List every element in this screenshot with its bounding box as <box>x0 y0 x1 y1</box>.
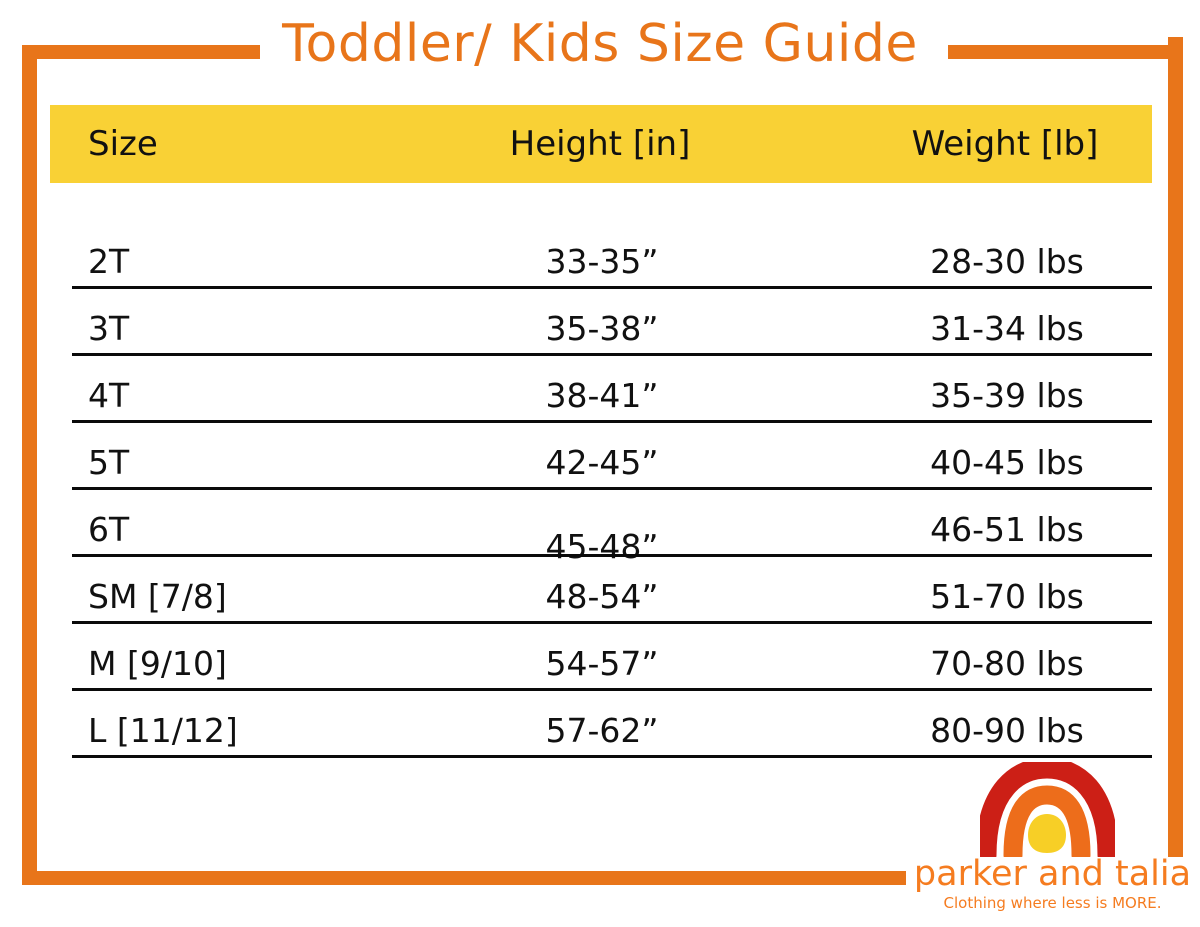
cell-size: 4T <box>88 376 129 415</box>
cell-weight: 46-51 lbs <box>862 510 1152 549</box>
table-row: 5T42-45”40-45 lbs <box>72 423 1152 490</box>
cell-weight: 70-80 lbs <box>862 644 1152 683</box>
table-row: SM [7/8]48-54”51-70 lbs <box>72 557 1152 624</box>
cell-height: 54-57” <box>452 644 752 683</box>
cell-size: 2T <box>88 242 129 281</box>
cell-weight: 28-30 lbs <box>862 242 1152 281</box>
cell-size: M [9/10] <box>88 644 227 683</box>
cell-weight: 35-39 lbs <box>862 376 1152 415</box>
rainbow-icon <box>980 762 1115 857</box>
table-row: M [9/10]54-57”70-80 lbs <box>72 624 1152 691</box>
cell-size: L [11/12] <box>88 711 238 750</box>
cell-height: 35-38” <box>452 309 752 348</box>
cell-height: 33-35” <box>452 242 752 281</box>
cell-size: 5T <box>88 443 129 482</box>
cell-height: 42-45” <box>452 443 752 482</box>
size-guide-card: Toddler/ Kids Size Guide Size Height [in… <box>0 0 1200 927</box>
table-row: 2T33-35”28-30 lbs <box>72 222 1152 289</box>
cell-size: SM [7/8] <box>88 577 227 616</box>
table-row: 6T45-48”46-51 lbs <box>72 490 1152 557</box>
cell-size: 6T <box>88 510 129 549</box>
table-row: L [11/12]57-62”80-90 lbs <box>72 691 1152 758</box>
brand-tagline: Clothing where less is MORE. <box>905 894 1200 912</box>
cell-height: 48-54” <box>452 577 752 616</box>
brand-logo: parker and talia Clothing where less is … <box>905 762 1200 922</box>
cell-weight: 40-45 lbs <box>862 443 1152 482</box>
table-row: 4T38-41”35-39 lbs <box>72 356 1152 423</box>
cell-weight: 51-70 lbs <box>862 577 1152 616</box>
cell-height: 57-62” <box>452 711 752 750</box>
table-row: 3T35-38”31-34 lbs <box>72 289 1152 356</box>
row-divider <box>72 755 1152 758</box>
cell-weight: 31-34 lbs <box>862 309 1152 348</box>
brand-name: parker and talia <box>905 854 1200 894</box>
cell-height: 38-41” <box>452 376 752 415</box>
cell-size: 3T <box>88 309 129 348</box>
cell-weight: 80-90 lbs <box>862 711 1152 750</box>
